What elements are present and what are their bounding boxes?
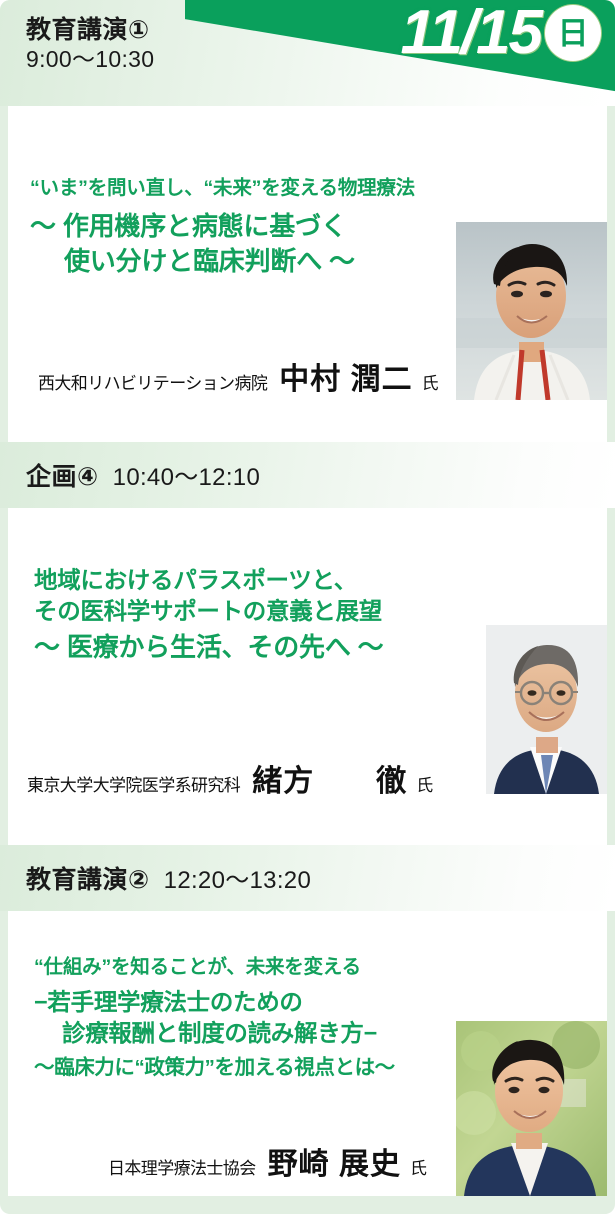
speaker-line-2: 東京大学大学院医学系研究科 緒方 徹 氏 [27, 756, 433, 800]
session-card-1: “いま”を問い直し、“未来”を変える物理療法 〜 作用機序と病態に基づく 使い分… [8, 106, 607, 442]
session-3-time-label: 12:20〜13:20 [164, 860, 311, 895]
session-header-2: 企画④ 10:40〜12:10 [0, 442, 615, 508]
session-2-title-line-1: 地域におけるパラスポーツと、 [34, 565, 383, 596]
session-1-title: “いま”を問い直し、“未来”を変える物理療法 〜 作用機序と病態に基づく 使い分… [30, 176, 415, 278]
speaker-photo-2 [486, 625, 607, 794]
date-display: 11/15 日 [400, 2, 601, 64]
speaker-3-name: 野崎 展史 [268, 1139, 401, 1183]
speaker-2-affiliation: 東京大学大学院医学系研究科 [27, 771, 240, 796]
header-session-info: 教育講演① 9:00〜10:30 [26, 16, 154, 73]
session-time-label: 9:00〜10:30 [26, 47, 154, 73]
speaker-1-honorific: 氏 [422, 369, 439, 394]
session-1-title-line-3: 使い分けと臨床判断へ 〜 [64, 244, 415, 278]
session-card-2: 地域におけるパラスポーツと、 その医科学サポートの意義と展望 〜 医療から生活、… [8, 508, 607, 845]
day-of-week-badge: 日 [545, 5, 601, 61]
speaker-photo-3 [456, 1021, 607, 1196]
speaker-1-name: 中村 潤二 [279, 354, 412, 398]
speaker-1-affiliation: 西大和リハビリテーション病院 [38, 369, 267, 394]
speaker-photo-1 [456, 222, 607, 400]
session-2-title-line-2: その医科学サポートの意義と展望 [34, 596, 383, 627]
session-3-title-line-1: “仕組み”を知ることが、未来を変える [34, 955, 395, 979]
session-3-title: “仕組み”を知ることが、未来を変える −若手理学療法士のための 診療報酬と制度の… [34, 955, 395, 1081]
speaker-3-affiliation: 日本理学療法士協会 [108, 1154, 256, 1179]
program-page: 教育講演① 9:00〜10:30 11/15 日 “いま”を問い直し、“未来”を… [0, 0, 615, 1214]
date-text: 11/15 [400, 2, 541, 64]
session-card-3: “仕組み”を知ることが、未来を変える −若手理学療法士のための 診療報酬と制度の… [8, 911, 607, 1196]
session-2-title-line-3: 〜 医療から生活、その先へ 〜 [34, 630, 383, 664]
session-3-title-line-2: −若手理学療法士のための [34, 987, 395, 1018]
session-3-title-line-4: 〜臨床力に“政策力”を加える視点とは〜 [34, 1055, 395, 1081]
speaker-line-3: 日本理学療法士協会 野崎 展史 氏 [108, 1139, 427, 1183]
speaker-line-1: 西大和リハビリテーション病院 中村 潤二 氏 [38, 354, 439, 398]
session-2-title: 地域におけるパラスポーツと、 その医科学サポートの意義と展望 〜 医療から生活、… [34, 565, 383, 664]
session-1-title-line-1: “いま”を問い直し、“未来”を変える物理療法 [30, 176, 415, 200]
session-1-title-line-2: 〜 作用機序と病態に基づく [30, 209, 415, 243]
speaker-2-honorific: 氏 [416, 771, 433, 796]
speaker-3-honorific: 氏 [410, 1154, 427, 1179]
session-2-time-label: 10:40〜12:10 [113, 457, 260, 492]
session-3-kind-label: 教育講演② [26, 860, 150, 896]
session-3-title-line-3: 診療報酬と制度の読み解き方− [62, 1018, 395, 1049]
speaker-2-name: 緒方 徹 [252, 756, 407, 800]
session-kind-label: 教育講演① [26, 16, 154, 44]
session-2-kind-label: 企画④ [26, 457, 99, 493]
session-header-3: 教育講演② 12:20〜13:20 [0, 845, 615, 911]
session-header-1: 教育講演① 9:00〜10:30 11/15 日 [0, 0, 615, 106]
